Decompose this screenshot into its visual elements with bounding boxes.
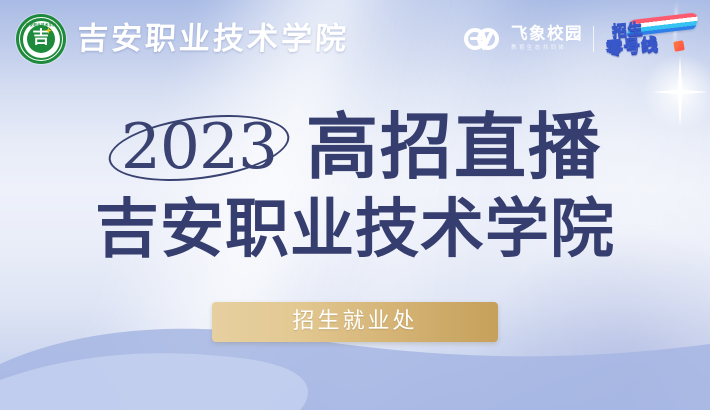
partner-zone: 飞象校园 教育生态共同体 招生 零号线 bbox=[464, 13, 696, 65]
page-title: 高招直播 bbox=[306, 111, 602, 183]
badge-accent-icon bbox=[673, 40, 685, 52]
poster-root: 吉安职业技术学院 吉 吉安职业技术学院 飞象校园 教育生态共同体 bbox=[0, 0, 710, 410]
headline-line-1: 2023 高招直播 bbox=[0, 104, 710, 190]
college-seal-icon: 吉安职业技术学院 吉 bbox=[16, 14, 66, 64]
school-brand: 吉安职业技术学院 吉 吉安职业技术学院 bbox=[16, 14, 349, 64]
headline-block: 2023 高招直播 吉安职业技术学院 bbox=[0, 104, 710, 262]
seal-glyph: 吉 bbox=[16, 30, 66, 47]
department-banner-wrap: 招生就业处 bbox=[0, 302, 710, 342]
partner-name: 飞象校园 bbox=[511, 26, 583, 43]
badge-line-2: 零号线 bbox=[605, 37, 659, 59]
partner-subtitle: 教育生态共同体 bbox=[511, 46, 583, 52]
department-banner-label: 招生就业处 bbox=[292, 311, 417, 333]
fx-monogram-icon bbox=[464, 27, 504, 51]
department-banner[interactable]: 招生就业处 bbox=[212, 302, 498, 342]
school-name: 吉安职业技术学院 bbox=[76, 24, 350, 55]
vertical-divider bbox=[593, 26, 594, 52]
page-subtitle: 吉安职业技术学院 bbox=[0, 198, 710, 262]
feixiang-logo[interactable]: 飞象校园 教育生态共同体 bbox=[464, 26, 583, 51]
top-bar: 吉安职业技术学院 吉 吉安职业技术学院 飞象校园 教育生态共同体 bbox=[0, 0, 710, 78]
admissions-hotline-badge[interactable]: 招生 零号线 bbox=[604, 13, 696, 65]
year-text: 2023 bbox=[108, 112, 290, 181]
year-stamp: 2023 bbox=[108, 107, 290, 187]
headline-line-2: 吉安职业技术学院 bbox=[0, 198, 710, 262]
